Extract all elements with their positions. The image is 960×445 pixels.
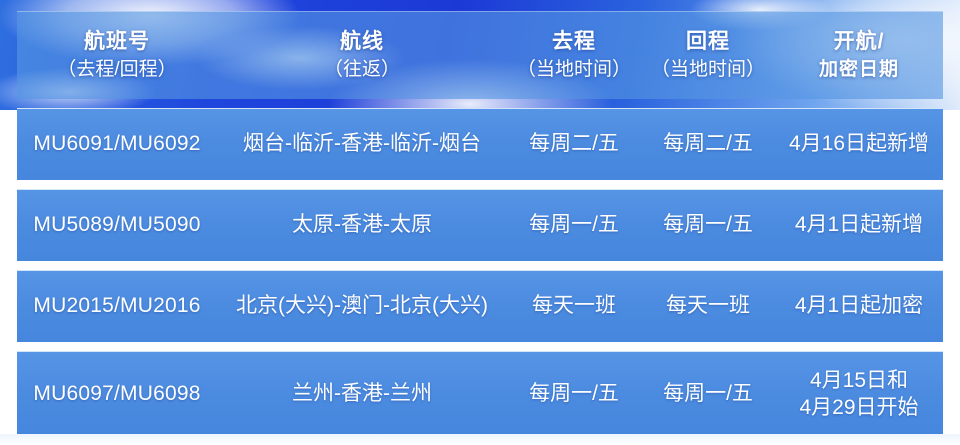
column-header-return-line2: （当地时间） (641, 58, 775, 82)
column-header-outbound-line1: 去程 (507, 29, 641, 55)
table-header-row: 航班号 （去程/回程） 航线 （往返） 去程 （当地时间） 回程 （当地时间） … (17, 11, 943, 99)
cell-outbound: 每周一/五 (507, 212, 641, 238)
column-header-flight-number: 航班号 （去程/回程） (17, 29, 217, 82)
cell-start-date-line1: 4月16日起新增 (789, 132, 929, 155)
cell-start-date-line1: 4月15日和 (810, 369, 908, 392)
cell-outbound: 每周二/五 (507, 131, 641, 157)
cell-return: 每周二/五 (641, 131, 775, 157)
column-header-start-date-line2: 加密日期 (775, 58, 943, 82)
cell-start-date: 4月1日起加密 (775, 293, 943, 319)
column-header-route: 航线 （往返） (217, 29, 507, 82)
column-header-return: 回程 （当地时间） (641, 29, 775, 82)
column-header-route-line1: 航线 (217, 29, 507, 55)
cell-flight-number: MU6091/MU6092 (17, 131, 217, 157)
table-row: MU6097/MU6098 兰州-香港-兰州 每周一/五 每周一/五 4月15日… (17, 351, 943, 437)
flight-schedule-table: 航班号 （去程/回程） 航线 （往返） 去程 （当地时间） 回程 （当地时间） … (17, 11, 943, 445)
column-header-return-line1: 回程 (641, 29, 775, 55)
table-row: MU6091/MU6092 烟台-临沂-香港-临沂-烟台 每周二/五 每周二/五… (17, 108, 943, 180)
cell-route: 太原-香港-太原 (217, 212, 507, 238)
cell-outbound: 每周一/五 (507, 381, 641, 407)
cell-flight-number: MU2015/MU2016 (17, 293, 217, 319)
cell-outbound: 每天一班 (507, 293, 641, 319)
cell-start-date: 4月15日和 4月29日开始 (775, 368, 943, 421)
column-header-start-date-line1: 开航/ (775, 29, 943, 55)
column-header-start-date: 开航/ 加密日期 (775, 29, 943, 82)
cell-return: 每周一/五 (641, 212, 775, 238)
cell-return: 每周一/五 (641, 381, 775, 407)
cell-route: 北京(大兴)-澳门-北京(大兴) (217, 293, 507, 319)
cell-route: 烟台-临沂-香港-临沂-烟台 (217, 131, 507, 157)
column-header-flight-number-line1: 航班号 (17, 29, 217, 55)
cell-start-date-line1: 4月1日起加密 (795, 294, 923, 317)
column-header-flight-number-line2: （去程/回程） (17, 58, 217, 82)
cell-flight-number: MU5089/MU5090 (17, 212, 217, 238)
flight-schedule-screen: 航班号 （去程/回程） 航线 （往返） 去程 （当地时间） 回程 （当地时间） … (0, 0, 960, 445)
cell-start-date: 4月16日起新增 (775, 131, 943, 157)
bottom-fade (0, 434, 960, 445)
table-row: MU2015/MU2016 北京(大兴)-澳门-北京(大兴) 每天一班 每天一班… (17, 270, 943, 342)
cell-start-date: 4月1日起新增 (775, 212, 943, 238)
cell-flight-number: MU6097/MU6098 (17, 381, 217, 407)
cell-start-date-line1: 4月1日起新增 (795, 213, 923, 236)
column-header-outbound: 去程 （当地时间） (507, 29, 641, 82)
column-header-route-line2: （往返） (217, 58, 507, 82)
table-row: MU5089/MU5090 太原-香港-太原 每周一/五 每周一/五 4月1日起… (17, 189, 943, 261)
column-header-outbound-line2: （当地时间） (507, 58, 641, 82)
cell-return: 每天一班 (641, 293, 775, 319)
cell-start-date-line2: 4月29日开始 (775, 395, 943, 421)
cell-route: 兰州-香港-兰州 (217, 381, 507, 407)
